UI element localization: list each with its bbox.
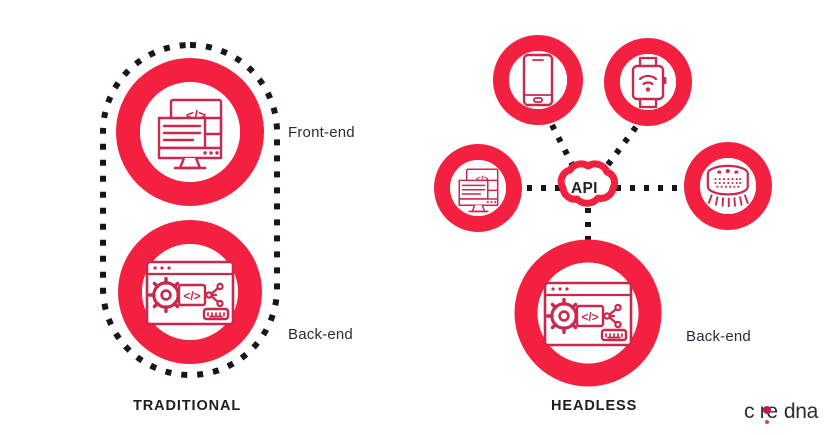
- headless-title: HEADLESS: [551, 398, 637, 414]
- logo-magenta-dot-icon: [763, 406, 771, 414]
- traditional-group: [103, 45, 277, 375]
- node-smart-speaker[interactable]: [692, 150, 764, 222]
- node-smart-watch[interactable]: [612, 46, 684, 118]
- headless-group: [442, 43, 764, 375]
- node-front-end[interactable]: [128, 70, 252, 194]
- diagram-canvas: </>: [0, 0, 831, 435]
- connector-watch-to-api: [604, 127, 636, 170]
- node-desktop[interactable]: [442, 152, 514, 224]
- smartphone-icon: [524, 55, 552, 105]
- back-end-label-headless: Back-end: [686, 328, 751, 345]
- node-mobile-phone[interactable]: [501, 43, 575, 117]
- node-back-end-traditional[interactable]: [130, 232, 250, 352]
- diagram-svg: </>: [0, 0, 831, 435]
- logo-word-dna: dna: [784, 401, 818, 422]
- api-label: API: [571, 180, 598, 198]
- back-end-label-traditional: Back-end: [288, 326, 353, 343]
- coredna-logo[interactable]: c re dna: [744, 401, 818, 422]
- browser-gear-code-icon: [545, 283, 631, 345]
- node-back-end-headless[interactable]: [526, 251, 650, 375]
- connector-phone-to-api: [552, 125, 575, 170]
- logo-word-core: c re: [744, 401, 778, 422]
- browser-gear-code-icon: [147, 262, 233, 324]
- front-end-label: Front-end: [288, 124, 355, 141]
- traditional-title: TRADITIONAL: [133, 398, 241, 414]
